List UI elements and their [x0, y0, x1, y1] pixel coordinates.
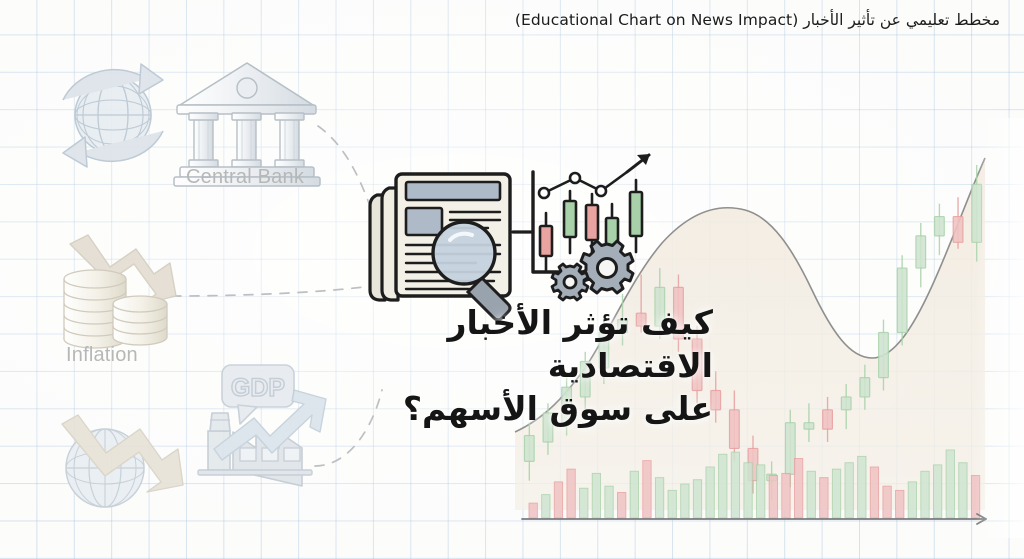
- volume-bar: [959, 463, 967, 518]
- headline-line-2: على سوق الأسهم؟: [293, 388, 713, 431]
- volume-bar: [832, 469, 840, 518]
- candle-body: [953, 217, 963, 243]
- volume-bar: [870, 467, 878, 518]
- chart-right-fade: [975, 118, 1024, 538]
- volume-bar: [858, 456, 866, 518]
- volume-bar: [542, 495, 550, 518]
- candle-body: [879, 333, 889, 378]
- volume-bar: [719, 454, 727, 518]
- candle-body: [823, 410, 833, 429]
- volume-bar: [693, 480, 701, 518]
- globe-exchange-icon: [63, 64, 163, 167]
- volume-bar: [757, 465, 765, 518]
- gear-large-icon: [581, 241, 633, 293]
- volume-bar: [933, 465, 941, 518]
- volume-bar: [706, 467, 714, 518]
- volume-bar: [731, 452, 739, 518]
- volume-bar: [605, 486, 613, 518]
- volume-bar: [845, 463, 853, 518]
- news-impact-icon: [370, 154, 650, 320]
- connector-inflation: [172, 286, 372, 296]
- inflation-icon: [64, 235, 176, 348]
- illustration-layer: GDP: [0, 0, 1024, 559]
- candle-body: [804, 423, 814, 429]
- headline-line-1: كيف تؤثر الأخبار الاقتصادية: [293, 302, 713, 388]
- volume-bar: [567, 469, 575, 518]
- volume-bar: [744, 463, 752, 518]
- volume-bar: [617, 493, 625, 519]
- volume-bar: [681, 484, 689, 518]
- volume-bar: [592, 473, 600, 518]
- volume-bar: [807, 471, 815, 518]
- globe-decline-icon: [62, 415, 183, 507]
- label-central-bank: Central Bank: [186, 166, 304, 189]
- volume-bar: [946, 450, 954, 518]
- volume-bar: [908, 482, 916, 518]
- gdp-text: GDP: [231, 374, 285, 402]
- label-inflation: Inflation: [66, 344, 138, 367]
- candle-body: [860, 378, 870, 397]
- poster-canvas: مخطط تعليمي عن تأثير الأخبار (Educationa…: [0, 0, 1024, 559]
- volume-bar: [794, 459, 802, 519]
- volume-bar: [668, 490, 676, 518]
- candle-body: [785, 423, 795, 475]
- candle-body: [841, 397, 851, 410]
- volume-bar: [883, 486, 891, 518]
- candle-body: [935, 217, 945, 236]
- coin-stack-short: [113, 296, 167, 345]
- volume-bar: [554, 482, 562, 518]
- volume-bar: [580, 488, 588, 518]
- candle-body: [897, 268, 907, 332]
- newspaper-photo: [406, 208, 442, 235]
- newspaper-masthead: [406, 182, 500, 200]
- gear-small-icon: [552, 264, 588, 300]
- volume-bar: [529, 503, 537, 518]
- volume-bar: [820, 478, 828, 518]
- volume-bar: [643, 461, 651, 518]
- volume-bar: [655, 478, 663, 518]
- candle-body: [730, 410, 740, 449]
- volume-bar: [630, 471, 638, 518]
- volume-bar: [896, 490, 904, 518]
- volume-bar: [921, 471, 929, 518]
- main-headline: كيف تؤثر الأخبار الاقتصادية على سوق الأس…: [293, 302, 713, 431]
- candle-body: [524, 436, 534, 462]
- gdp-speech-bubble-icon: GDP: [222, 365, 294, 424]
- volume-bar: [782, 473, 790, 518]
- candle-body: [916, 236, 926, 268]
- volume-bar: [769, 476, 777, 519]
